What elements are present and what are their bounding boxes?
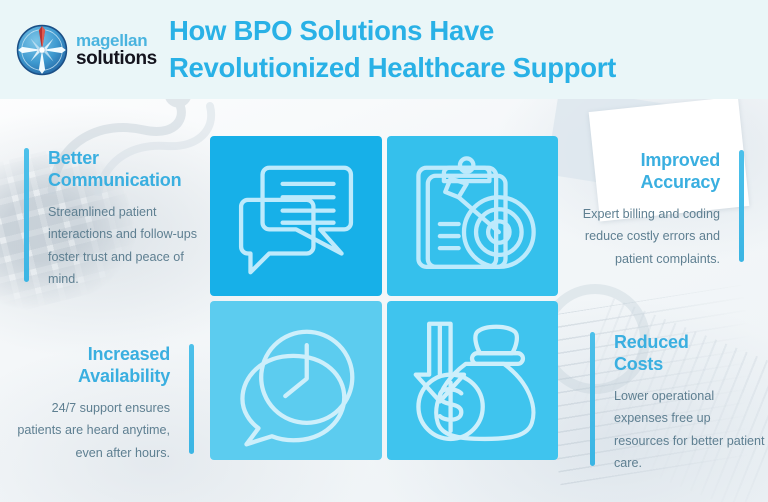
feature-body: Streamlined patient interactions and fol…	[48, 201, 209, 291]
feature-title-line2: Availability	[78, 366, 170, 386]
feature-body: 24/7 support ensures patients are heard …	[14, 397, 170, 464]
brand-wordmark: magellan solutions	[76, 32, 157, 68]
brand-logo[interactable]: magellan solutions	[16, 24, 161, 76]
clipboard-target-dart-icon	[400, 149, 544, 283]
speech-bubbles-icon	[224, 149, 368, 283]
feature-block-availability: Increased Availability 24/7 support ensu…	[14, 344, 194, 464]
brand-word-solutions: solutions	[76, 49, 157, 68]
feature-block-accuracy: Improved Accuracy Expert billing and cod…	[554, 150, 744, 270]
page-title-line2: Revolutionized Healthcare Support	[169, 52, 616, 83]
feature-title-line2: Accuracy	[641, 172, 720, 192]
feature-title: Reduced Costs	[614, 332, 768, 376]
brand-word-magellan: magellan	[76, 32, 157, 49]
feature-title-line1: Improved	[641, 150, 720, 170]
feature-title-line2: Costs	[614, 354, 663, 374]
feature-title: Increased Availability	[14, 344, 170, 388]
page-title-line1: How BPO Solutions Have	[169, 15, 494, 46]
icon-tile-grid	[210, 136, 558, 460]
money-bag-down-arrow-dollar-icon	[400, 313, 544, 447]
feature-block-communication: Better Communication Streamlined patient…	[24, 148, 209, 291]
tile-communication	[210, 136, 382, 296]
accent-bar	[590, 332, 595, 466]
tile-accuracy	[387, 136, 559, 296]
accent-bar	[189, 344, 194, 454]
feature-body: Lower operational expenses free up resou…	[614, 385, 768, 475]
header-band: magellan solutions How BPO Solutions Hav…	[0, 0, 768, 99]
feature-title-line1: Reduced	[614, 332, 689, 352]
feature-title-line2: Communication	[48, 170, 181, 190]
feature-title: Better Communication	[48, 148, 209, 192]
feature-title-line1: Increased	[88, 344, 170, 364]
feature-body: Expert billing and coding reduce costly …	[554, 203, 720, 270]
tile-costs	[387, 301, 559, 461]
clock-speech-bubble-icon	[224, 313, 368, 447]
tile-availability	[210, 301, 382, 461]
feature-title-line1: Better	[48, 148, 99, 168]
feature-title: Improved Accuracy	[554, 150, 720, 194]
accent-bar	[24, 148, 29, 282]
accent-bar	[739, 150, 744, 262]
feature-block-costs: Reduced Costs Lower operational expenses…	[590, 332, 768, 475]
compass-rose-icon	[16, 24, 68, 76]
page-title: How BPO Solutions Have Revolutionized He…	[169, 13, 616, 86]
